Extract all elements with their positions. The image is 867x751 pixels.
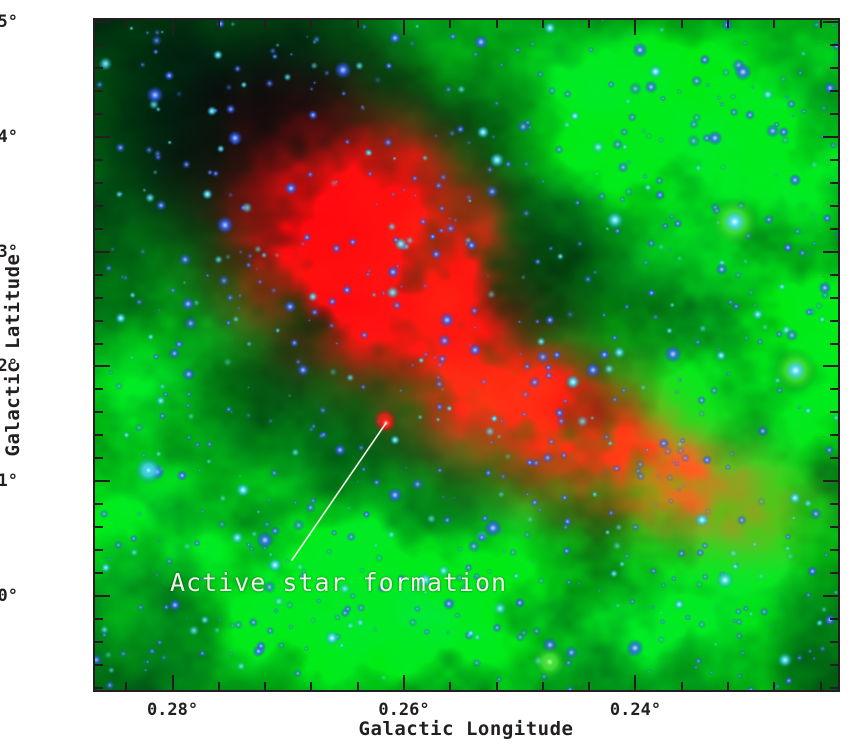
minor-tick-bottom [588, 682, 590, 690]
major-tick-top [172, 20, 174, 35]
minor-tick-left [95, 664, 103, 666]
minor-tick-left [95, 205, 103, 207]
minor-tick-left [95, 113, 103, 115]
minor-tick-right [830, 388, 838, 390]
y-tick-label: +0.01° [0, 471, 18, 491]
minor-tick-right [830, 159, 838, 161]
minor-tick-bottom [264, 682, 266, 690]
minor-tick-top [218, 20, 220, 28]
y-axis-title: Galactic Latitude [2, 254, 24, 457]
minor-tick-bottom [681, 682, 683, 690]
minor-tick-left [95, 182, 103, 184]
major-tick-right [823, 21, 838, 23]
minor-tick-left [95, 320, 103, 322]
minor-tick-left [95, 67, 103, 69]
x-tick-label: 0.26° [378, 700, 429, 720]
major-tick-bottom [172, 675, 174, 690]
minor-tick-left [95, 641, 103, 643]
minor-tick-top [496, 20, 498, 28]
x-tick-label: 0.24° [610, 700, 661, 720]
minor-tick-bottom [820, 682, 822, 690]
minor-tick-top [542, 20, 544, 28]
major-tick-left [95, 251, 110, 253]
minor-tick-top [125, 20, 127, 28]
minor-tick-bottom [773, 682, 775, 690]
minor-tick-right [830, 297, 838, 299]
minor-tick-left [95, 549, 103, 551]
major-tick-right [823, 365, 838, 367]
minor-tick-bottom [218, 682, 220, 690]
major-tick-right [823, 595, 838, 597]
minor-tick-bottom [449, 682, 451, 690]
minor-tick-right [830, 182, 838, 184]
minor-tick-top [357, 20, 359, 28]
major-tick-right [823, 251, 838, 253]
minor-tick-top [727, 20, 729, 28]
minor-tick-left [95, 90, 103, 92]
y-tick-label: +0.04° [0, 127, 18, 147]
minor-tick-top [449, 20, 451, 28]
sky-image-canvas [95, 20, 838, 690]
major-tick-top [403, 20, 405, 35]
minor-tick-right [830, 343, 838, 345]
minor-tick-right [830, 434, 838, 436]
minor-tick-left [95, 434, 103, 436]
major-tick-bottom [403, 675, 405, 690]
minor-tick-right [830, 411, 838, 413]
minor-tick-left [95, 388, 103, 390]
x-axis-title: Galactic Longitude [359, 718, 574, 740]
minor-tick-right [830, 572, 838, 574]
minor-tick-top [773, 20, 775, 28]
minor-tick-right [830, 618, 838, 620]
minor-tick-left [95, 503, 103, 505]
x-tick-label: 0.28° [147, 700, 198, 720]
major-tick-left [95, 136, 110, 138]
minor-tick-left [95, 526, 103, 528]
minor-tick-bottom [542, 682, 544, 690]
minor-tick-left [95, 411, 103, 413]
minor-tick-right [830, 641, 838, 643]
minor-tick-left [95, 44, 103, 46]
minor-tick-right [830, 67, 838, 69]
major-tick-left [95, 480, 110, 482]
minor-tick-right [830, 44, 838, 46]
minor-tick-left [95, 457, 103, 459]
minor-tick-left [95, 228, 103, 230]
major-tick-right [823, 480, 838, 482]
minor-tick-left [95, 343, 103, 345]
minor-tick-bottom [310, 682, 312, 690]
minor-tick-left [95, 274, 103, 276]
major-tick-top [634, 20, 636, 35]
minor-tick-right [830, 228, 838, 230]
minor-tick-top [310, 20, 312, 28]
minor-tick-left [95, 618, 103, 620]
minor-tick-right [830, 457, 838, 459]
minor-tick-right [830, 526, 838, 528]
major-tick-left [95, 21, 110, 23]
minor-tick-right [830, 274, 838, 276]
major-tick-left [95, 595, 110, 597]
minor-tick-bottom [357, 682, 359, 690]
minor-tick-left [95, 159, 103, 161]
minor-tick-right [830, 205, 838, 207]
minor-tick-bottom [125, 682, 127, 690]
minor-tick-right [830, 113, 838, 115]
minor-tick-top [681, 20, 683, 28]
minor-tick-right [830, 664, 838, 666]
major-tick-right [823, 136, 838, 138]
minor-tick-right [830, 90, 838, 92]
astronomy-figure: +0.05°+0.04°+0.03°+0.02°+0.01°0.00° 0.28… [0, 0, 867, 751]
minor-tick-right [830, 549, 838, 551]
major-tick-bottom [634, 675, 636, 690]
minor-tick-right [830, 320, 838, 322]
minor-tick-right [830, 503, 838, 505]
y-tick-label: 0.00° [0, 586, 18, 606]
minor-tick-left [95, 572, 103, 574]
sky-image-plot[interactable] [95, 20, 838, 690]
y-tick-label: +0.05° [0, 12, 18, 32]
minor-tick-top [264, 20, 266, 28]
minor-tick-left [95, 687, 103, 689]
minor-tick-top [588, 20, 590, 28]
minor-tick-bottom [727, 682, 729, 690]
minor-tick-bottom [496, 682, 498, 690]
minor-tick-top [820, 20, 822, 28]
minor-tick-right [830, 687, 838, 689]
major-tick-left [95, 365, 110, 367]
minor-tick-left [95, 297, 103, 299]
